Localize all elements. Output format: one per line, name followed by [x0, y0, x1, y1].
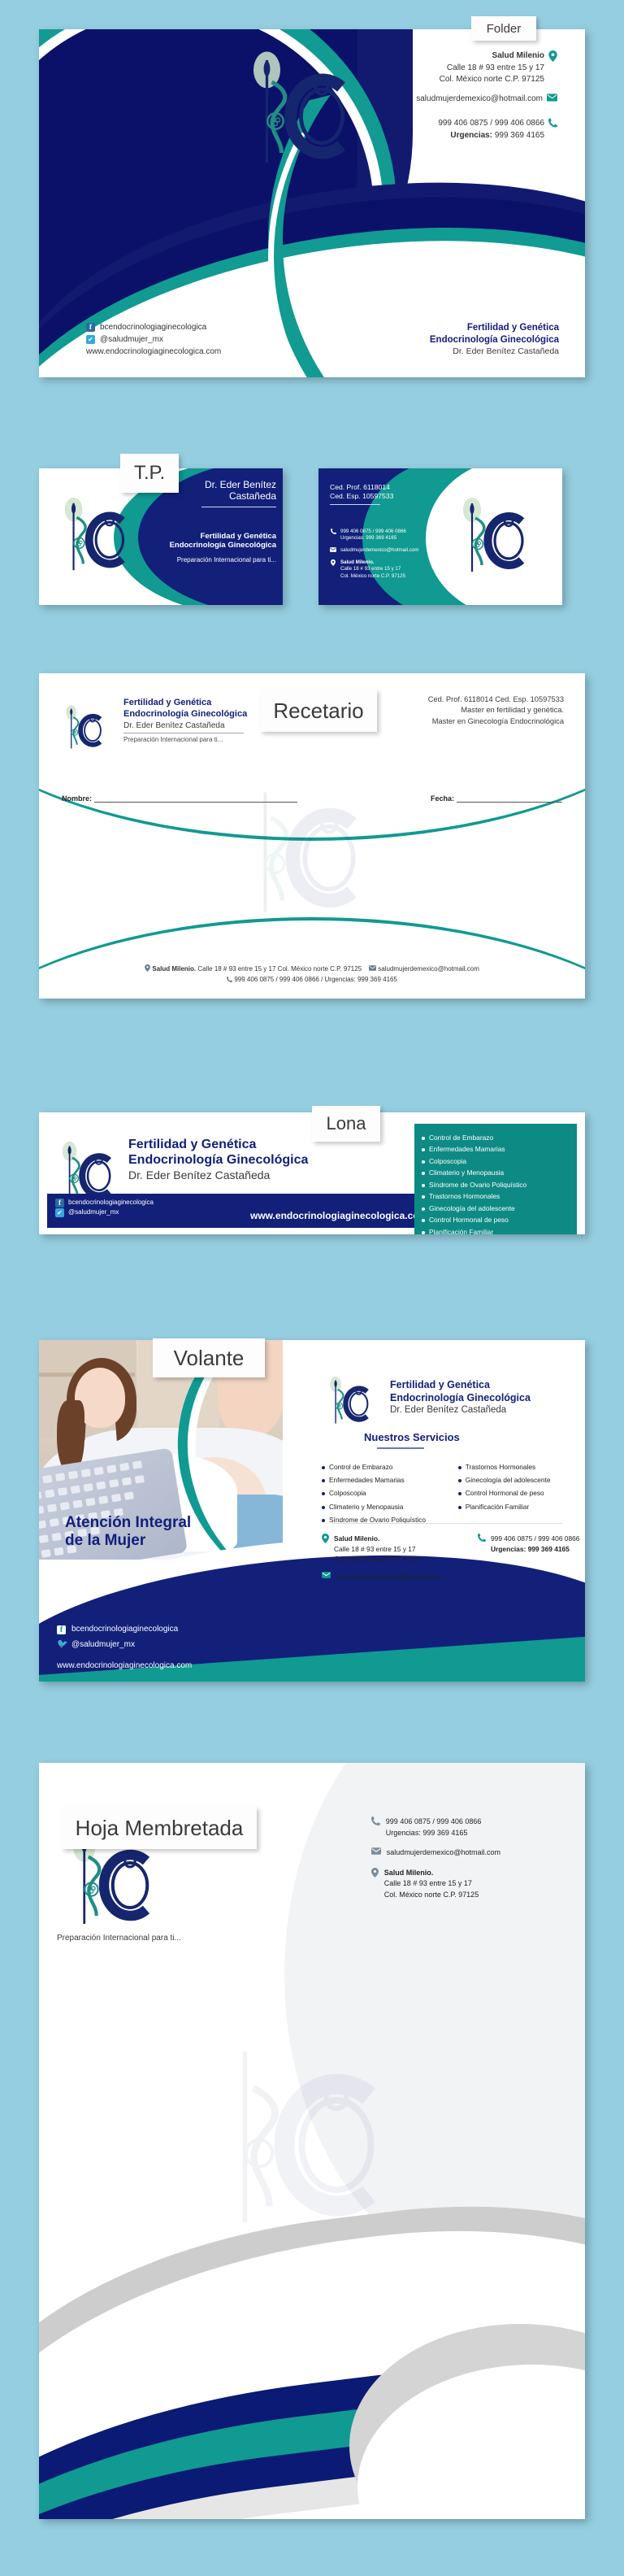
lona-doctor: Dr. Eder Benítez Castañeda [128, 1168, 308, 1181]
card-company-line2: Endocrinología Ginecológica [133, 541, 276, 550]
list-item: Control de Embarazo [322, 1460, 445, 1473]
hoja-urgencias: Urgencias: 999 369 4165 [386, 1829, 468, 1837]
card-back-rule [330, 504, 380, 505]
phone-icon [371, 1817, 380, 1825]
tab-label-tp-text: T.P. [134, 463, 165, 483]
volante-facebook-row[interactable]: f bcendocrinologiaginecologica [57, 1622, 178, 1638]
recetario-clinic: Salud Milenio. [152, 965, 196, 973]
nombre-input-line[interactable] [94, 794, 297, 803]
list-item: Climaterio y Menopausia [322, 1500, 445, 1513]
folder-facebook-row[interactable]: f bcendocrinologiaginecologica [86, 323, 221, 332]
lona-twitter-handle: @saludmujer_mx [68, 1207, 119, 1217]
list-item: Control Hormonal de peso [458, 1486, 574, 1499]
lona-brand-text: Fertilidad y Genética Endocrinología Gin… [128, 1137, 308, 1181]
volante-twitter-handle: @saludmujer_mx [71, 1638, 135, 1653]
hoja-email: saludmujerdemexico@hotmail.com [387, 1847, 500, 1859]
list-item: Síndrome de Ovario Poliquístico [422, 1179, 570, 1190]
volante-phones: 999 406 0875 / 999 406 0866 [491, 1534, 579, 1543]
volante-company-line2: Endocrinología Ginecológica [390, 1392, 531, 1405]
location-icon [145, 964, 150, 972]
location-icon [330, 559, 336, 568]
volante-services-title: Nuestros Servicios [364, 1431, 460, 1443]
lona-company-line2: Endocrinología Ginecológica [128, 1152, 308, 1168]
hoja-contact-block: 999 406 0875 / 999 406 0866 Urgencias: 9… [371, 1817, 500, 1909]
hoja-phone-row: 999 406 0875 / 999 406 0866 Urgencias: 9… [371, 1817, 500, 1838]
card-slogan: Preparación Internacional para ti... [133, 556, 276, 563]
list-item: Trastornos Hormonales [422, 1190, 570, 1202]
twitter-icon: ✔ [55, 1208, 64, 1217]
recetario-address1: Calle 18 # 93 entre 15 y 17 [197, 965, 275, 973]
volante-address1: Calle 18 # 93 entre 15 y 17 [334, 1545, 416, 1553]
volante-phone-block: 999 406 0875 / 999 406 0866 Urgencias: 9… [478, 1534, 579, 1554]
recetario-company-line1: Fertilidad y Genética [123, 698, 247, 709]
tab-label-recetario-text: Recetario [273, 700, 363, 721]
card-address2: Col. México norte C.P. 97125 [340, 573, 405, 579]
card-email: saludmujerdemexico@hotmail.com [340, 547, 418, 554]
fecha-field[interactable]: Fecha: [431, 794, 562, 803]
volante-phone-text: 999 406 0875 / 999 406 0866 Urgencias: 9… [491, 1534, 579, 1554]
fecha-input-line[interactable] [457, 794, 562, 803]
volante-services-col-right: Trastornos Hormonales Ginecología del ad… [458, 1460, 574, 1526]
folder-email-row: saludmujerdemexico@hotmail.com [289, 94, 557, 106]
card-address1: Calle 18 # 93 entre 15 y 17 [340, 566, 401, 572]
folder-phones: 999 406 0875 / 999 406 0866 [438, 118, 544, 130]
list-item: Control Hormonal de peso [422, 1214, 570, 1225]
mail-icon [369, 965, 376, 971]
tab-label-lona: Lona [312, 1106, 380, 1142]
phone-icon [478, 1534, 486, 1542]
list-item: Control de Embarazo [422, 1132, 570, 1143]
business-card-back: Ced. Prof. 6118014 Ced. Esp. 10597533 99… [318, 468, 562, 605]
twitter-icon: 🐦 [57, 1640, 66, 1649]
hoja-slogan: Preparación Internacional para ti... [57, 1934, 181, 1943]
hoja-phones: 999 406 0875 / 999 406 0866 [386, 1817, 482, 1825]
recetario-master2: Master en Ginecología Endocrinológica [428, 716, 564, 727]
volante-address-row: Salud Milenio. Calle 18 # 93 entre 15 y … [322, 1534, 441, 1564]
location-icon [548, 50, 557, 62]
card-address-text: Salud Milenio. Calle 18 # 93 entre 15 y … [340, 559, 405, 580]
volante-address2: Col. México norte C.P. 97125 [334, 1555, 422, 1563]
recetario-slogan: Preparación Internacional para ti... [123, 736, 247, 743]
card-ced-esp: Ced. Esp. 10597533 [330, 492, 393, 501]
volante-company-line1: Fertilidad y Genética [390, 1379, 531, 1392]
folder-address-line2: Col. México norte C.P. 97125 [289, 74, 557, 86]
mail-icon [371, 1847, 381, 1855]
brand-logo-icon [450, 488, 548, 587]
recetario-bottom-arc [39, 917, 585, 999]
tab-label-lona-text: Lona [327, 1115, 366, 1133]
recetario-rule [123, 733, 244, 733]
card-phone-text: 999 406 0875 / 999 406 0866 Urgencias: 9… [340, 529, 406, 542]
list-item: Colposcopia [422, 1155, 570, 1167]
volante-urgencias: Urgencias: 999 369 4165 [491, 1545, 570, 1553]
folder-twitter-row[interactable]: ✔ @saludmujer_mx [86, 335, 221, 344]
lona-services-list: Control de Embarazo Enfermedades Mamaria… [414, 1124, 577, 1234]
folder-phone-row: 999 406 0875 / 999 406 0866 [289, 118, 557, 130]
mail-icon [547, 94, 557, 102]
folder-mockup: Salud Milenio Calle 18 # 93 entre 15 y 1… [39, 29, 585, 377]
volante-headline-line1: Atención Integral [65, 1514, 191, 1532]
watermark-logo-icon [190, 2031, 434, 2243]
folder-urgent-label: Urgencias: [450, 131, 492, 140]
folder-brand-block: Fertilidad y Genética Endocrinología Gin… [430, 322, 559, 356]
location-icon [322, 1534, 329, 1543]
lona-website[interactable]: www.endocrinologiaginecologica.com [250, 1210, 427, 1221]
tab-label-volante: Volante [153, 1338, 265, 1377]
phone-icon [330, 529, 336, 537]
folder-website[interactable]: www.endocrinologiaginecologica.com [86, 347, 221, 356]
volante-email-row: saludmujerdemexico@hotmail.com [322, 1572, 441, 1582]
list-item: Colposcopia [322, 1486, 445, 1499]
nombre-field[interactable]: Nombre: [62, 794, 297, 803]
card-email-row: saludmujerdemexico@hotmail.com [330, 547, 418, 555]
list-item: Enfermedades Mamarias [422, 1143, 570, 1155]
folder-address-line1: Calle 18 # 93 entre 15 y 17 [289, 63, 557, 75]
card-credentials: Ced. Prof. 6118014 Ced. Esp. 10597533 [330, 483, 393, 505]
tab-label-hoja-text: Hoja Membretada [76, 1817, 244, 1838]
recetario-header: Fertilidad y Genética Endocrinología Gin… [58, 688, 247, 769]
recetario-footer-line2: 999 406 0875 / 999 406 0866 / Urgencias:… [39, 974, 585, 986]
phone-icon [227, 977, 232, 982]
recetario-footer: Salud Milenio. Calle 18 # 93 entre 15 y … [39, 964, 585, 986]
card-clinic: Salud Milenio. [340, 559, 375, 565]
card-rule [201, 507, 276, 507]
volante-website[interactable]: www.endocrinologiaginecologica.com [57, 1661, 192, 1670]
list-item: Climaterio y Menopausia [422, 1167, 570, 1178]
volante-headline: Atención Integral de la Mujer [65, 1514, 191, 1551]
recetario-footer-line1: Salud Milenio. Calle 18 # 93 entre 15 y … [39, 964, 585, 975]
folder-urgent-row: Urgencias: 999 369 4165 [289, 130, 557, 142]
list-item: Planificación Familiar [458, 1500, 574, 1513]
recetario-master1: Master en fertilidad y genética. [428, 705, 564, 716]
folder-phone-block: 999 406 0875 / 999 406 0866 Urgencias: 9… [289, 118, 557, 141]
volante-services-col-left: Control de Embarazo Enfermedades Mamaria… [322, 1460, 445, 1526]
volante-address-text: Salud Milenio. Calle 18 # 93 entre 15 y … [334, 1534, 422, 1564]
volante-mockup: Fertilidad y Genética Endocrinología Gin… [39, 1340, 585, 1682]
card-back-contact: 999 406 0875 / 999 406 0866 Urgencias: 9… [330, 529, 418, 585]
tab-label-recetario: Recetario [260, 690, 377, 732]
volante-phone-row: 999 406 0875 / 999 406 0866 Urgencias: 9… [478, 1534, 579, 1554]
hoja-membretada-mockup: Preparación Internacional para ti... 999… [39, 1763, 585, 2519]
volante-services: Control de Embarazo Enfermedades Mamaria… [322, 1460, 574, 1526]
volante-facebook-handle: bcendocrinologiaginecologica [71, 1622, 178, 1638]
phone-icon [548, 118, 557, 128]
lona-company-line1: Fertilidad y Genética [128, 1137, 308, 1152]
tab-label-folder-text: Folder [487, 23, 522, 35]
tab-label-hoja: Hoja Membretada [62, 1807, 257, 1849]
volante-social: f bcendocrinologiaginecologica 🐦 @saludm… [57, 1622, 178, 1652]
card-urgencias: Urgencias: 999 369 4165 [340, 535, 396, 541]
facebook-icon: f [86, 323, 95, 332]
list-item: Enfermedades Mamarias [322, 1473, 445, 1486]
recetario-phones: 999 406 0875 / 999 406 0866 / Urgencias:… [234, 976, 397, 983]
card-phone-row: 999 406 0875 / 999 406 0866 Urgencias: 9… [330, 529, 418, 542]
brand-logo-icon [52, 488, 148, 585]
folder-email: saludmujerdemexico@hotmail.com [416, 94, 543, 106]
tab-label-tp: T.P. [120, 454, 179, 493]
tab-label-folder: Folder [471, 16, 536, 41]
lona-facebook-handle: bcendocrinologiaginecologica [68, 1198, 154, 1207]
recetario-doctor: Dr. Eder Benítez Castañeda [123, 721, 247, 730]
folder-company-line1: Fertilidad y Genética [430, 322, 559, 333]
list-item: Trastornos Hormonales [458, 1460, 574, 1473]
list-item: Ginecología del adolescente [422, 1203, 570, 1214]
volante-twitter-row[interactable]: 🐦 @saludmujer_mx [57, 1638, 178, 1653]
recetario-fields: Nombre: Fecha: [62, 794, 562, 803]
lona-facebook-row[interactable]: f bcendocrinologiaginecologica [55, 1198, 154, 1207]
recetario-ced: Ced. Prof. 6118014 Ced. Esp. 10597533 [428, 694, 564, 705]
recetario-header-text: Fertilidad y Genética Endocrinología Gin… [123, 688, 247, 769]
recetario-credentials: Ced. Prof. 6118014 Ced. Esp. 10597533 Ma… [428, 694, 564, 727]
volante-divider [331, 1523, 562, 1524]
volante-services-rule [377, 1447, 424, 1449]
recetario-address2: Col. México norte C.P. 97125 [278, 965, 362, 973]
card-phones: 999 406 0875 / 999 406 0866 [340, 529, 406, 534]
hoja-phone-text: 999 406 0875 / 999 406 0866 Urgencias: 9… [386, 1817, 482, 1838]
volante-email: saludmujerdemexico@hotmail.com [336, 1572, 441, 1582]
folder-company-line2: Endocrinología Ginecológica [430, 334, 559, 346]
folder-clinic-name: Salud Milenio [492, 50, 544, 63]
folder-contact-block: Salud Milenio Calle 18 # 93 entre 15 y 1… [289, 50, 557, 149]
facebook-icon: f [57, 1625, 66, 1634]
card-ced-prof: Ced. Prof. 6118014 [330, 483, 393, 492]
volante-address-block: Salud Milenio. Calle 18 # 93 entre 15 y … [322, 1534, 441, 1589]
hoja-email-row: saludmujerdemexico@hotmail.com [371, 1847, 500, 1859]
folder-urgent-number: 999 369 4165 [495, 131, 544, 140]
list-item: Síndrome de Ovario Poliquístico [322, 1513, 445, 1526]
hoja-address-row: Salud Milenio. Calle 18 # 93 entre 15 y … [371, 1868, 500, 1901]
brand-logo-icon [58, 688, 115, 769]
hoja-address1: Calle 18 # 93 entre 15 y 17 [384, 1879, 472, 1887]
folder-facebook-handle: bcendocrinologiaginecologica [100, 323, 206, 332]
volante-clinic: Salud Milenio. [334, 1534, 379, 1543]
mail-icon [330, 547, 336, 555]
mail-icon [322, 1572, 331, 1578]
card-address-row: Salud Milenio. Calle 18 # 93 entre 15 y … [330, 559, 418, 580]
nombre-label: Nombre: [62, 794, 92, 803]
volante-headline-line2: de la Mujer [65, 1532, 191, 1550]
volante-doctor: Dr. Eder Benítez Castañeda [390, 1405, 531, 1415]
twitter-icon: ✔ [86, 335, 95, 344]
portfolio-page: Folder Salud Milenio Calle 18 # 93 entre… [0, 0, 624, 2576]
card-company-line1: Fertilidad y Genética [133, 532, 276, 541]
folder-doctor-name: Dr. Eder Benítez Castañeda [430, 346, 559, 356]
facebook-icon: f [55, 1199, 64, 1207]
location-icon [371, 1868, 379, 1878]
lona-social: f bcendocrinologiaginecologica ✔ @saludm… [55, 1198, 154, 1218]
list-item: Ginecología del adolescente [458, 1473, 574, 1486]
recetario-email: saludmujerdemexico@hotmail.com [378, 965, 479, 973]
folder-twitter-handle: @saludmujer_mx [100, 335, 163, 344]
folder-clinic-row: Salud Milenio [289, 50, 557, 63]
fecha-label: Fecha: [431, 794, 454, 803]
list-item: Planificación Familiar [422, 1226, 570, 1234]
lona-twitter-row[interactable]: ✔ @saludmujer_mx [55, 1207, 154, 1217]
folder-address-block: Salud Milenio Calle 18 # 93 entre 15 y 1… [289, 50, 557, 86]
folder-social-block: f bcendocrinologiaginecologica ✔ @saludm… [86, 323, 221, 356]
hoja-address-text: Salud Milenio. Calle 18 # 93 entre 15 y … [384, 1868, 479, 1901]
hoja-clinic: Salud Milenio. [384, 1869, 434, 1877]
tab-label-volante-text: Volante [174, 1347, 245, 1368]
hoja-address2: Col. México norte C.P. 97125 [384, 1891, 479, 1899]
recetario-company-line2: Endocrinología Ginecológica [123, 709, 247, 720]
